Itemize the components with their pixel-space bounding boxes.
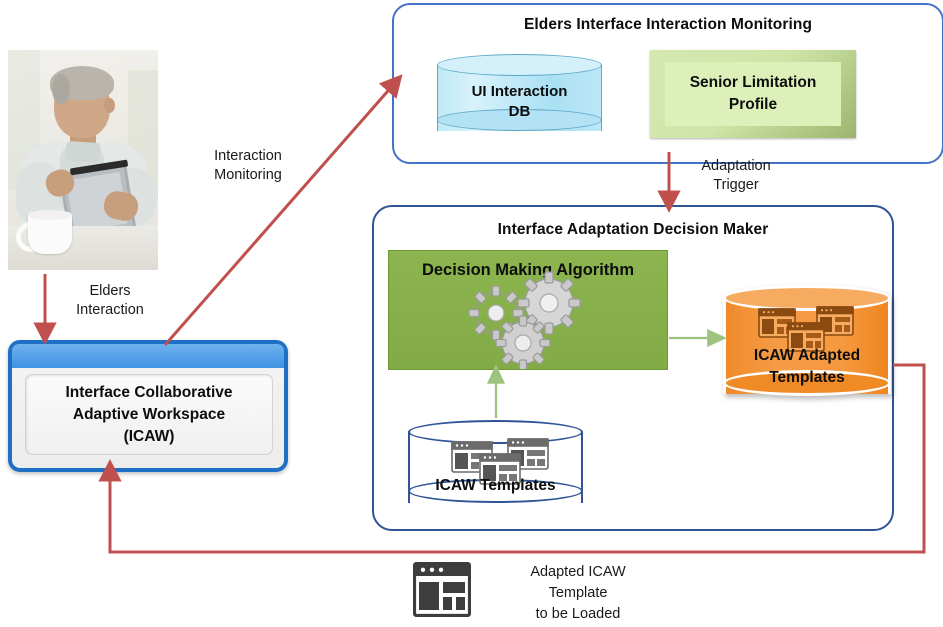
icaw-templates-label: ICAW Templates xyxy=(408,477,583,495)
icaw-templates-cylinder: ICAW Templates xyxy=(408,420,583,514)
adaptation-trigger-line2: Trigger xyxy=(713,177,758,193)
icaw-workspace-window[interactable]: Interface Collaborative Adaptive Workspa… xyxy=(8,340,288,472)
legend-line3: to be Loaded xyxy=(536,606,621,622)
db-label-line2: DB xyxy=(509,103,531,120)
adapted-line1: ICAW Adapted xyxy=(754,347,860,364)
gears-icon xyxy=(389,251,667,369)
decision-maker-title: Interface Adaptation Decision Maker xyxy=(374,221,892,239)
legend-label: Adapted ICAW Template to be Loaded xyxy=(478,562,678,625)
window-titlebar xyxy=(12,344,284,368)
elders-monitoring-title: Elders Interface Interaction Monitoring xyxy=(394,16,942,34)
senior-limitation-profile-box: Senior Limitation Profile xyxy=(650,50,856,138)
adaptation-trigger-line1: Adaptation xyxy=(701,158,770,174)
interaction-monitoring-line1: Interaction xyxy=(214,148,282,164)
profile-line2: Profile xyxy=(729,96,777,113)
decision-making-algorithm-box: Decision Making Algorithm xyxy=(388,250,668,370)
label-interaction-monitoring: Interaction Monitoring xyxy=(188,147,308,185)
adapted-line2: Templates xyxy=(769,369,845,386)
profile-line1: Senior Limitation xyxy=(690,74,817,91)
legend-line2: Template xyxy=(549,585,608,601)
elders-interaction-line1: Elders xyxy=(89,283,130,299)
elders-photo xyxy=(8,50,158,270)
db-label-line1: UI Interaction xyxy=(472,83,568,100)
ui-interaction-db-cylinder: UI Interaction DB xyxy=(437,54,602,142)
arrow-interaction-monitoring xyxy=(165,84,394,345)
icaw-workspace-label: Interface Collaborative Adaptive Workspa… xyxy=(65,382,232,448)
icaw-adapted-templates-cylinder: ICAW Adapted Templates xyxy=(723,285,891,407)
senior-limitation-profile-label: Senior Limitation Profile xyxy=(690,72,817,116)
window-panel: Interface Collaborative Adaptive Workspa… xyxy=(25,374,273,455)
label-elders-interaction: Elders Interaction xyxy=(55,282,165,320)
workspace-line1: Interface Collaborative xyxy=(65,384,232,401)
interaction-monitoring-line2: Monitoring xyxy=(214,167,282,183)
workspace-line3: (ICAW) xyxy=(124,428,175,445)
windows-icon xyxy=(408,420,583,514)
elders-interaction-line2: Interaction xyxy=(76,302,144,318)
workspace-line2: Adaptive Workspace xyxy=(73,406,225,423)
ui-interaction-db-label: UI Interaction DB xyxy=(437,82,602,122)
icaw-adapted-templates-label: ICAW Adapted Templates xyxy=(723,345,891,389)
window-template-icon xyxy=(413,562,471,617)
label-adaptation-trigger: Adaptation Trigger xyxy=(676,157,796,195)
diagram-canvas: Elders Interface Interaction Monitoring … xyxy=(0,0,943,627)
legend-line1: Adapted ICAW xyxy=(530,564,625,580)
